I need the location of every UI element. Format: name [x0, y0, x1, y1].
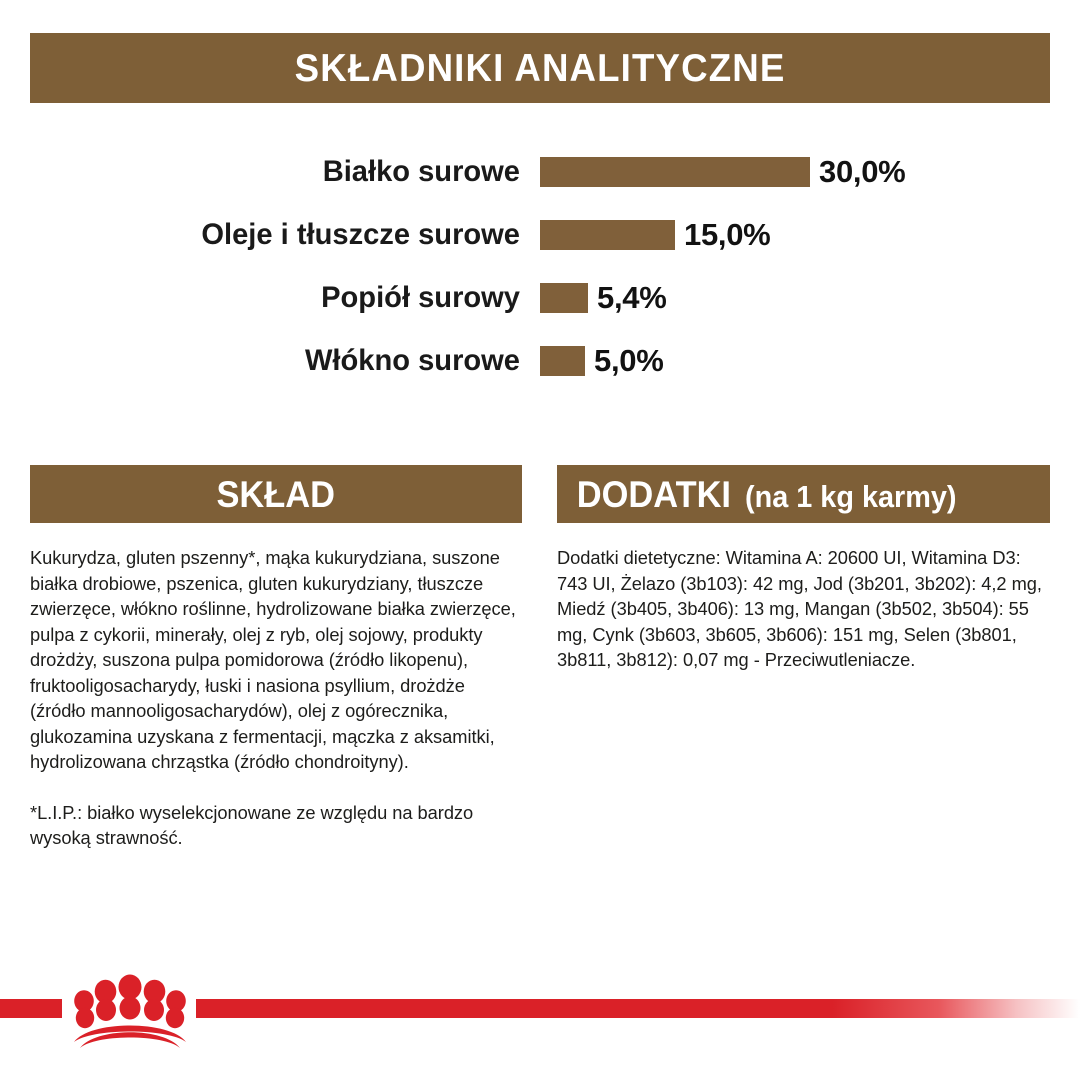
footer-stripe-left — [0, 999, 62, 1018]
chart-bar — [540, 283, 588, 313]
chart-row-label: Popiół surowy — [113, 281, 520, 315]
brand-footer — [0, 970, 1080, 1080]
additives-heading: DODATKI — [577, 476, 731, 513]
chart-row-label: Włókno surowe — [113, 344, 520, 378]
composition-heading: SKŁAD — [217, 476, 336, 513]
additives-column: DODATKI (na 1 kg karmy) Dodatki dietetyc… — [557, 465, 1050, 673]
chart-bar — [540, 220, 675, 250]
footer-stripe-right — [196, 999, 1080, 1018]
chart-row: Włókno surowe 5,0% — [0, 329, 1080, 392]
additives-banner: DODATKI (na 1 kg karmy) — [557, 465, 1050, 523]
chart-value-label: 15,0% — [684, 217, 770, 253]
chart-row: Białko surowe 30,0% — [0, 140, 1080, 203]
chart-value-label: 5,0% — [594, 343, 663, 379]
chart-value-label: 5,4% — [597, 280, 666, 316]
chart-value-label: 30,0% — [819, 154, 905, 190]
chart-bar-group: 30,0% — [540, 154, 905, 190]
chart-row-label: Oleje i tłuszcze surowe — [113, 218, 520, 252]
royal-canin-crown-icon — [68, 970, 192, 1048]
page-title: SKŁADNIKI ANALITYCZNE — [295, 49, 786, 88]
composition-banner: SKŁAD — [30, 465, 522, 523]
additives-heading-subtitle: (na 1 kg karmy) — [745, 481, 957, 512]
composition-footnote: *L.I.P.: białko wyselekcjonowane ze wzgl… — [30, 800, 522, 851]
analytical-constituents-banner: SKŁADNIKI ANALITYCZNE — [30, 33, 1050, 103]
chart-row-label: Białko surowe — [113, 155, 520, 189]
chart-bar-group: 15,0% — [540, 217, 770, 253]
chart-bar-group: 5,4% — [540, 280, 666, 316]
chart-row: Oleje i tłuszcze surowe 15,0% — [0, 203, 1080, 266]
chart-bar-group: 5,0% — [540, 343, 663, 379]
composition-column: SKŁAD Kukurydza, gluten pszenny*, mąka k… — [30, 465, 522, 851]
page-root: SKŁADNIKI ANALITYCZNE Białko surowe 30,0… — [0, 0, 1080, 1080]
chart-bar — [540, 157, 810, 187]
additives-text: Dodatki dietetyczne: Witamina A: 20600 U… — [557, 545, 1050, 673]
chart-row: Popiół surowy 5,4% — [0, 266, 1080, 329]
composition-text: Kukurydza, gluten pszenny*, mąka kukuryd… — [30, 545, 522, 775]
analytical-constituents-chart: Białko surowe 30,0% Oleje i tłuszcze sur… — [0, 140, 1080, 392]
chart-bar — [540, 346, 585, 376]
